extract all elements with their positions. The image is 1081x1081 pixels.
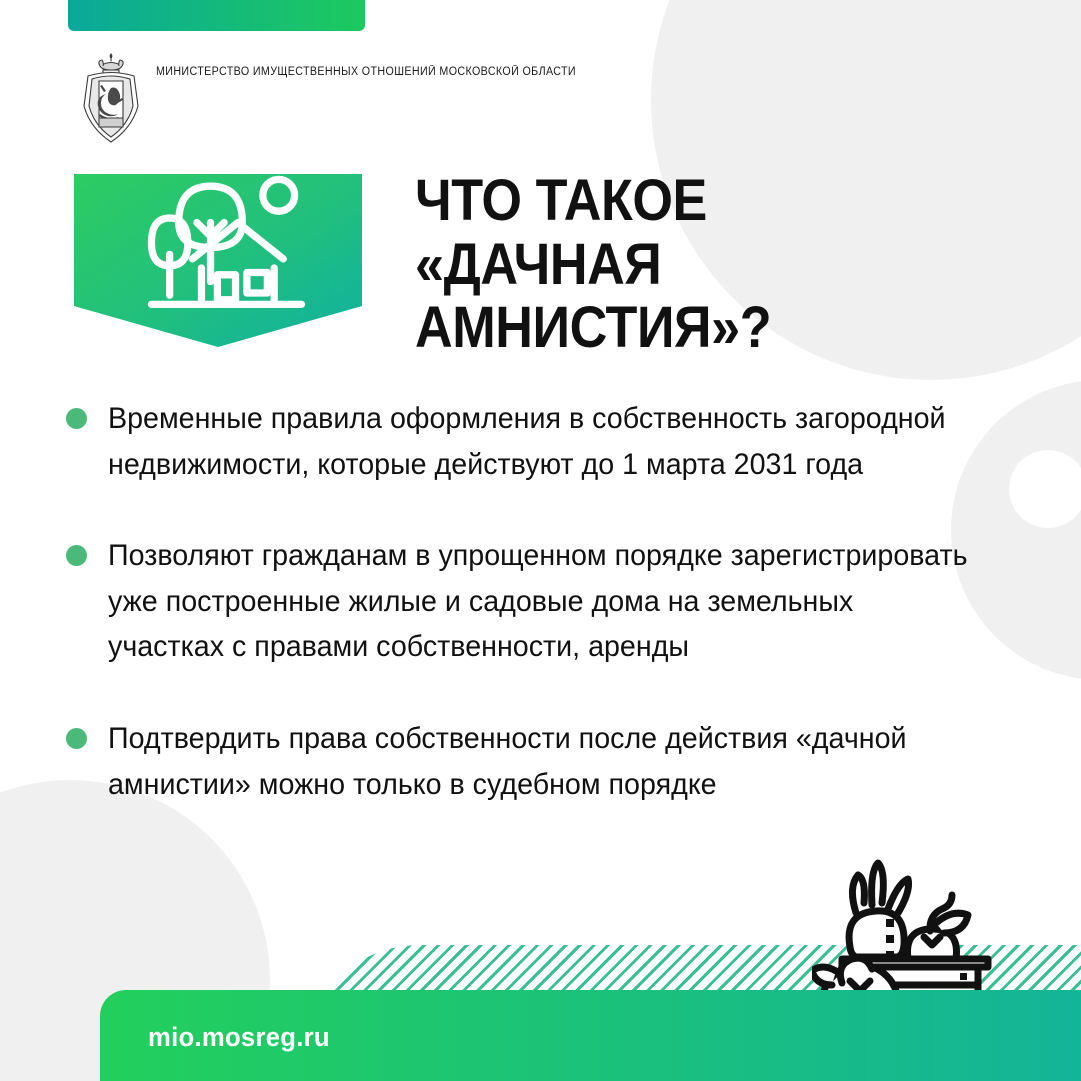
page-title: ЧТО ТАКОЕ «ДАЧНАЯ АМНИСТИЯ»?: [415, 169, 955, 360]
bullet-dot-icon: [66, 545, 87, 566]
ministry-name: МИНИСТЕРСТВО ИМУЩЕСТВЕННЫХ ОТНОШЕНИЙ МОС…: [156, 50, 576, 81]
footer-bar: mio.mosreg.ru: [100, 990, 1081, 1081]
decor-circle-right-small: [1009, 450, 1081, 528]
dachny-otvet-badge: ДАЧНЫЙ ОТВЕТ: [68, 168, 368, 353]
badge-content: ДАЧНЫЙ ОТВЕТ: [68, 168, 368, 318]
top-accent-bar: [68, 0, 365, 31]
list-item: Позволяют гражданам в упрощенном порядке…: [62, 533, 1017, 670]
list-item: Временные правила оформления в собственн…: [62, 396, 1017, 487]
bullet-list: Временные правила оформления в собственн…: [62, 396, 1017, 807]
bullet-text: Подтвердить права собственности после де…: [108, 716, 976, 807]
bullet-text: Временные правила оформления в собственн…: [108, 396, 976, 487]
bullet-dot-icon: [66, 728, 87, 749]
house-tree-sun-icon: [94, 168, 368, 318]
ministry-logo-block: МИНИСТЕРСТВО ИМУЩЕСТВЕННЫХ ОТНОШЕНИЙ МОС…: [78, 50, 608, 146]
infographic-canvas: МИНИСТЕРСТВО ИМУЩЕСТВЕННЫХ ОТНОШЕНИЙ МОС…: [0, 0, 1081, 1081]
bullet-text: Позволяют гражданам в упрощенном порядке…: [108, 533, 976, 670]
coat-of-arms-icon: [78, 50, 144, 146]
site-url[interactable]: mio.mosreg.ru: [148, 1022, 330, 1053]
list-item: Подтвердить права собственности после де…: [62, 716, 1017, 807]
bullet-dot-icon: [66, 408, 87, 429]
